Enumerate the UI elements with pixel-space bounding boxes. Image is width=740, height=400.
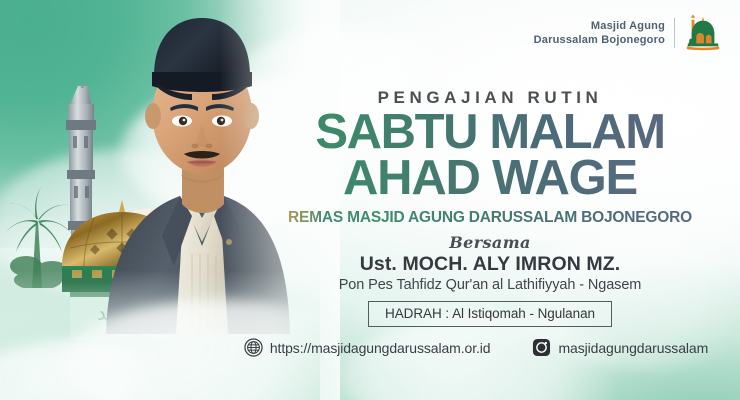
hadrah-badge: HADRAH : Al Istiqomah - Ngulanan (368, 301, 612, 327)
instagram-icon (532, 338, 551, 357)
speaker-affiliation: Pon Pes Tahfidz Qur'an al Lathifiyyah - … (255, 277, 725, 293)
title-line-2: AHAD WAGE (255, 155, 725, 202)
organizer-text: REMAS MASJID AGUNG DARUSSALAM BOJONEGORO (255, 209, 725, 227)
website-contact[interactable]: https://masjidagungdarussalam.or.id (244, 338, 491, 357)
speaker-name: Ust. MOCH. ALY IMRON MZ. (255, 253, 725, 276)
pengajian-banner: مسجد (0, 0, 740, 400)
bersama-label: Bersama (255, 233, 725, 252)
instagram-contact[interactable]: masjidagungdarussalam (532, 338, 708, 357)
instagram-text: masjidagungdarussalam (558, 340, 708, 356)
title-line-1: SABTU MALAM (255, 110, 725, 155)
globe-icon (244, 338, 263, 357)
website-text: https://masjidagungdarussalam.or.id (270, 340, 491, 356)
main-content: PENGAJIAN RUTIN SABTU MALAM AHAD WAGE RE… (255, 0, 725, 400)
footer-contacts: https://masjidagungdarussalam.or.id masj… (241, 338, 711, 357)
